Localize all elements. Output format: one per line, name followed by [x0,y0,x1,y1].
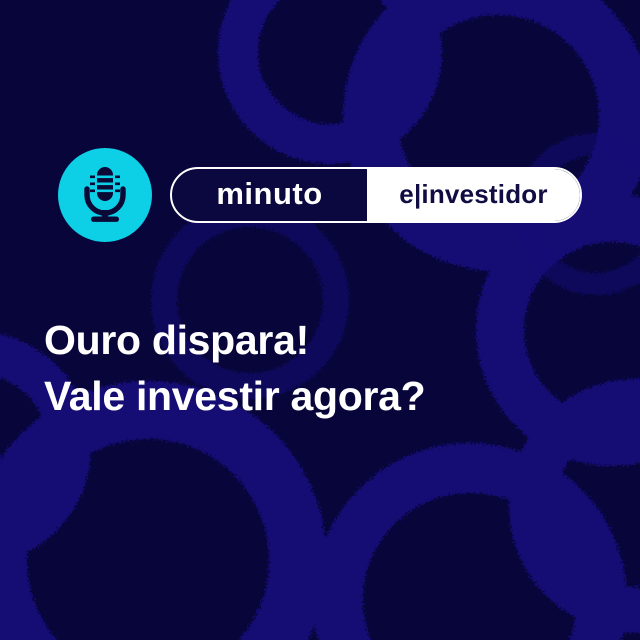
podcast-cover-card: minuto e|investidor Ouro dispara! Vale i… [0,0,640,640]
microphone-badge [58,148,152,242]
headline-line-2: Vale investir agora? [44,368,604,424]
brand-minuto-label: minuto [172,169,367,221]
brand-logo-row: minuto e|investidor [58,148,582,242]
headline-line-1: Ouro dispara! [44,312,604,368]
brand-einvestidor-label: e|investidor [367,169,580,221]
headline-block: Ouro dispara! Vale investir agora? [44,312,604,424]
microphone-icon [78,166,132,224]
brand-pill: minuto e|investidor [170,167,582,223]
